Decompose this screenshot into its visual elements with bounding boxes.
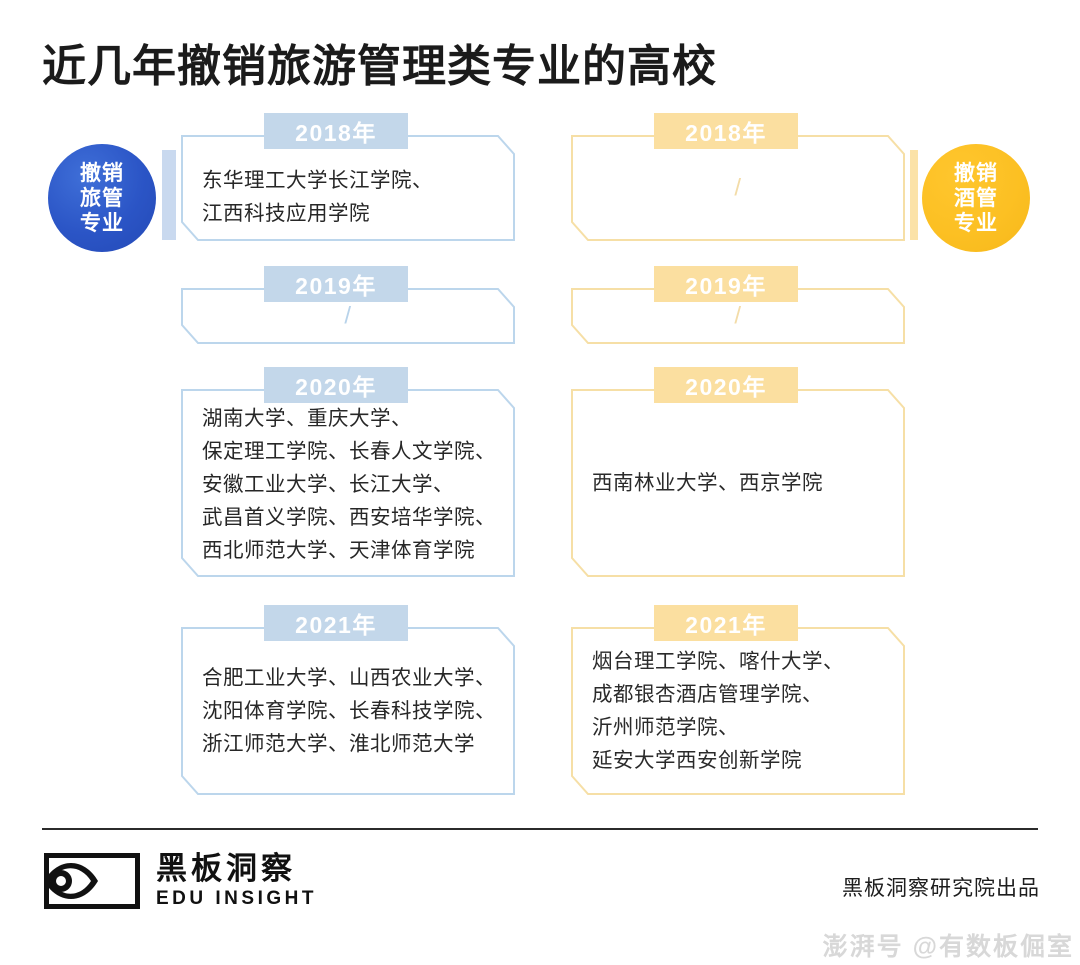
year-tab-right-2018: 2018年 [654, 113, 798, 149]
year-tab-right-2020-label: 2020年 [685, 368, 767, 402]
year-tab-left-2019: 2019年 [264, 266, 408, 302]
card-left-2018-line-1: 江西科技应用学院 [202, 197, 494, 230]
card-left-2020-line-4: 西北师范大学、天津体育学院 [202, 534, 494, 567]
card-left-2020: 湖南大学、重庆大学、 保定理工学院、长春人文学院、 安徽工业大学、长江大学、 武… [176, 384, 520, 582]
brand-name-cn: 黑板洞察 [156, 852, 317, 886]
badge-right-line1: 撤销 [954, 161, 998, 186]
badge-left-line1: 撤销 [80, 161, 124, 186]
card-right-2021-line-0: 烟台理工学院、喀什大学、 [592, 645, 884, 678]
card-left-2020-line-1: 保定理工学院、长春人文学院、 [202, 435, 494, 468]
card-left-2020-line-0: 湖南大学、重庆大学、 [202, 402, 494, 435]
card-left-2018-content: 东华理工大学长江学院、 江西科技应用学院 [176, 164, 520, 230]
year-tab-right-2019-label: 2019年 [685, 267, 767, 301]
badge-right-line2: 酒管 [954, 186, 998, 211]
eye-logo-icon [44, 853, 140, 909]
card-right-2020-line-0: 西南林业大学、西京学院 [592, 467, 884, 500]
card-left-2021-content: 合肥工业大学、山西农业大学、 沈阳体育学院、长春科技学院、 浙江师范大学、淮北师… [176, 662, 520, 761]
brand-logo: 黑板洞察 EDU INSIGHT [44, 852, 317, 910]
card-left-2020-line-3: 武昌首义学院、西安培华学院、 [202, 501, 494, 534]
card-left-2021: 合肥工业大学、山西农业大学、 沈阳体育学院、长春科技学院、 浙江师范大学、淮北师… [176, 622, 520, 800]
year-tab-left-2020: 2020年 [264, 367, 408, 403]
year-tab-right-2021: 2021年 [654, 605, 798, 641]
year-tab-right-2021-label: 2021年 [685, 606, 767, 640]
year-tab-right-2020: 2020年 [654, 367, 798, 403]
card-right-2021-line-2: 沂州师范学院、 [592, 711, 884, 744]
year-tab-left-2021: 2021年 [264, 605, 408, 641]
card-left-2021-line-0: 合肥工业大学、山西农业大学、 [202, 662, 494, 695]
page-title: 近几年撤销旅游管理类专业的高校 [42, 30, 717, 94]
card-left-2020-content: 湖南大学、重庆大学、 保定理工学院、长春人文学院、 安徽工业大学、长江大学、 武… [176, 402, 520, 567]
brand-logo-text: 黑板洞察 EDU INSIGHT [156, 852, 317, 910]
badge-left-line2: 旅管 [80, 186, 124, 211]
card-left-2020-line-2: 安徽工业大学、长江大学、 [202, 468, 494, 501]
card-left-2021-line-2: 浙江师范大学、淮北师范大学 [202, 728, 494, 761]
card-left-2021-line-1: 沈阳体育学院、长春科技学院、 [202, 695, 494, 728]
badge-left-line3: 专业 [80, 211, 124, 236]
card-left-2019-placeholder: / [176, 300, 520, 333]
year-tab-right-2018-label: 2018年 [685, 114, 767, 148]
card-left-2018-line-0: 东华理工大学长江学院、 [202, 164, 494, 197]
watermark-text: 澎湃号 @有数板倔室 [823, 927, 1074, 963]
footer-divider [42, 828, 1038, 830]
card-right-2018-placeholder: / [566, 172, 910, 205]
year-tab-left-2019-label: 2019年 [295, 267, 377, 301]
badge-right-hotel-management: 撤销 酒管 专业 [922, 144, 1030, 252]
card-right-2021-line-3: 延安大学西安创新学院 [592, 744, 884, 777]
badge-left-tourism-management: 撤销 旅管 专业 [48, 144, 156, 252]
year-tab-right-2019: 2019年 [654, 266, 798, 302]
year-tab-left-2021-label: 2021年 [295, 606, 377, 640]
year-tab-left-2018: 2018年 [264, 113, 408, 149]
card-right-2021-content: 烟台理工学院、喀什大学、 成都银杏酒店管理学院、 沂州师范学院、 延安大学西安创… [566, 645, 910, 777]
brand-name-en: EDU INSIGHT [156, 888, 317, 910]
card-right-2021-line-1: 成都银杏酒店管理学院、 [592, 678, 884, 711]
infographic-page: 近几年撤销旅游管理类专业的高校 撤销 旅管 专业 撤销 酒管 专业 东华理工大学… [0, 0, 1080, 965]
year-tab-left-2018-label: 2018年 [295, 114, 377, 148]
footer-credit: 黑板洞察研究院出品 [842, 872, 1040, 902]
card-right-2019-placeholder: / [566, 300, 910, 333]
year-tab-left-2020-label: 2020年 [295, 368, 377, 402]
card-right-2021: 烟台理工学院、喀什大学、 成都银杏酒店管理学院、 沂州师范学院、 延安大学西安创… [566, 622, 910, 800]
card-right-2020-content: 西南林业大学、西京学院 [566, 467, 910, 500]
badge-right-line3: 专业 [954, 211, 998, 236]
card-right-2020: 西南林业大学、西京学院 [566, 384, 910, 582]
